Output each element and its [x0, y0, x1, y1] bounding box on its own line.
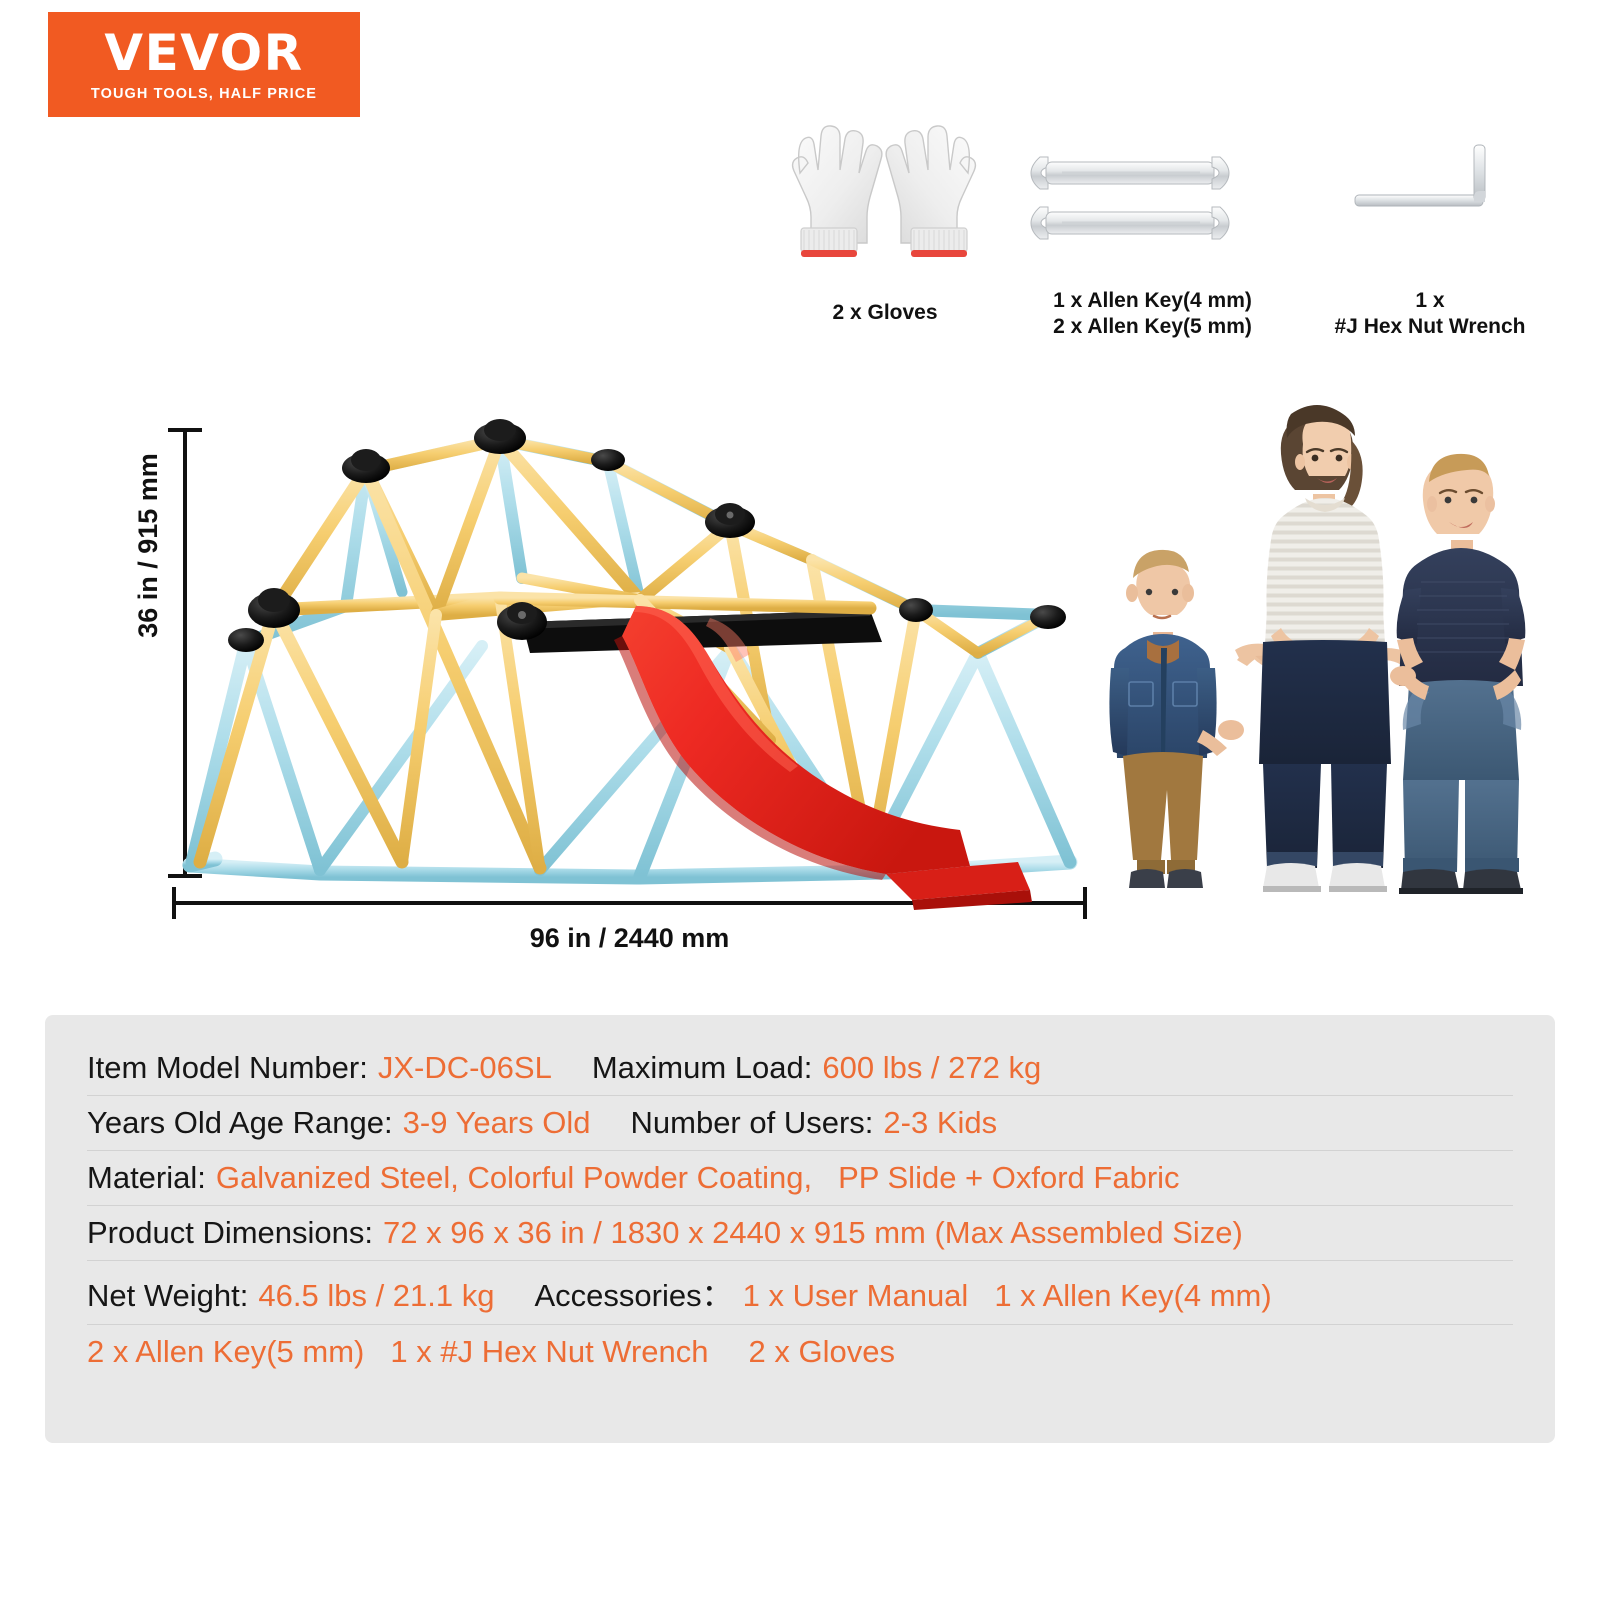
child-toddler: [1109, 550, 1227, 888]
hex-wrench-caption-line1: 1 x: [1300, 288, 1560, 314]
height-dimension-label: 36 in / 915 mm: [133, 453, 164, 638]
brand-wordmark: VEVOR: [104, 28, 303, 78]
accessory-allen-keys: 1 x Allen Key(4 mm) 2 x Allen Key(5 mm): [1020, 115, 1285, 341]
label-net-weight: Net Weight:: [87, 1278, 248, 1314]
label-number-of-users: Number of Users:: [631, 1105, 874, 1141]
accessory-gloves: 2 x Gloves: [770, 115, 1000, 326]
product-infographic: VEVOR TOUGH TOOLS, HALF PRICE: [0, 0, 1600, 1600]
label-item-model-number: Item Model Number:: [87, 1050, 368, 1086]
spec-row-material: Material: Galvanized Steel, Colorful Pow…: [87, 1151, 1513, 1206]
allen-key-wrench-icon: [1020, 115, 1285, 270]
value-accessory-user-manual: 1 x User Manual: [743, 1278, 969, 1314]
value-product-dimensions: 72 x 96 x 36 in / 1830 x 2440 x 915 mm (…: [383, 1215, 1243, 1251]
value-accessory-hex-nut-wrench: 1 x #J Hex Nut Wrench: [390, 1334, 708, 1370]
product-illustration: 36 in / 915 mm 96 in / 2440 mm: [110, 390, 1580, 950]
spec-row-model-load: Item Model Number: JX-DC-06SL Maximum Lo…: [87, 1041, 1513, 1096]
width-dimension-label: 96 in / 2440 mm: [172, 923, 1087, 954]
value-accessory-allen-key-4mm: 1 x Allen Key(4 mm): [994, 1278, 1271, 1314]
label-material: Material:: [87, 1160, 206, 1196]
allen-key-caption-line2: 2 x Allen Key(5 mm): [1020, 314, 1285, 340]
gloves-caption: 2 x Gloves: [770, 300, 1000, 326]
hex-wrench-caption-line2: #J Hex Nut Wrench: [1300, 314, 1560, 340]
label-accessories: Accessories：: [535, 1270, 733, 1315]
child-boy: [1397, 454, 1526, 894]
climbing-dome-graphic: [170, 410, 1180, 910]
value-item-model-number: JX-DC-06SL: [378, 1050, 552, 1086]
accessory-hex-nut-wrench: 1 x #J Hex Nut Wrench: [1300, 115, 1560, 341]
value-material-slide: PP Slide + Oxford Fabric: [838, 1160, 1179, 1196]
vevor-logo: VEVOR TOUGH TOOLS, HALF PRICE: [48, 12, 360, 117]
value-accessory-allen-key-5mm: 2 x Allen Key(5 mm): [87, 1334, 364, 1370]
spec-row-accessories-cont: 2 x Allen Key(5 mm) 1 x #J Hex Nut Wrenc…: [87, 1325, 1513, 1379]
label-maximum-load: Maximum Load:: [592, 1050, 813, 1086]
value-material: Galvanized Steel, Colorful Powder Coatin…: [216, 1160, 812, 1196]
child-girl: [1235, 405, 1415, 892]
value-maximum-load: 600 lbs / 272 kg: [822, 1050, 1041, 1086]
children-scale-reference: [1085, 400, 1585, 910]
hex-nut-wrench-icon: [1300, 115, 1560, 270]
value-net-weight: 46.5 lbs / 21.1 kg: [258, 1278, 494, 1314]
label-age-range: Years Old Age Range:: [87, 1105, 393, 1141]
label-product-dimensions: Product Dimensions:: [87, 1215, 373, 1251]
value-age-range: 3-9 Years Old: [403, 1105, 591, 1141]
value-accessory-gloves: 2 x Gloves: [749, 1334, 895, 1370]
spec-row-weight-accessories: Net Weight: 46.5 lbs / 21.1 kg Accessori…: [87, 1261, 1513, 1325]
value-number-of-users: 2-3 Kids: [883, 1105, 997, 1141]
spec-row-age-users: Years Old Age Range: 3-9 Years Old Numbe…: [87, 1096, 1513, 1151]
gloves-icon: [770, 115, 1000, 270]
brand-tagline: TOUGH TOOLS, HALF PRICE: [91, 86, 317, 102]
allen-key-caption-line1: 1 x Allen Key(4 mm): [1020, 288, 1285, 314]
spec-row-dimensions: Product Dimensions: 72 x 96 x 36 in / 18…: [87, 1206, 1513, 1261]
accessories-strip: 2 x Gloves: [770, 115, 1560, 330]
specification-panel: Item Model Number: JX-DC-06SL Maximum Lo…: [45, 1015, 1555, 1443]
